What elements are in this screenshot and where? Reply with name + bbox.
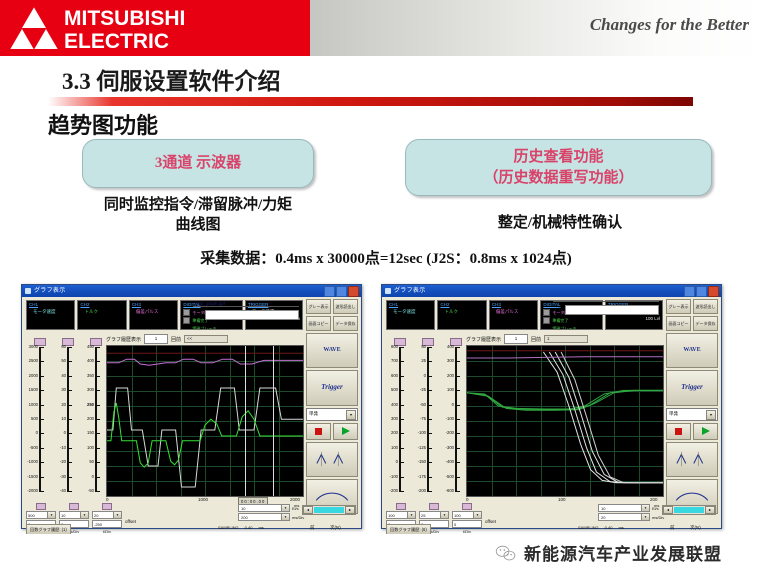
stop-icon [315, 428, 322, 435]
axis-tick-label: 40 [61, 374, 66, 378]
memo-input[interactable] [205, 310, 299, 320]
stop-button[interactable] [666, 423, 691, 440]
axis-tick [427, 405, 432, 406]
axis-tick [455, 376, 460, 377]
wechat-icon [495, 544, 517, 562]
digital-label: 電磁ブレーキ [192, 326, 216, 331]
chevron-down-icon[interactable]: ▾ [440, 512, 448, 518]
axis2-div-select[interactable]: 10▾ [59, 511, 89, 519]
ch1-title: CH1 [389, 302, 432, 308]
axis3-control: 100▾ 0 t/Div [452, 503, 482, 534]
axis-tick [67, 361, 72, 362]
axis-tick-label: 400 [447, 345, 454, 349]
memo-label: メモ: [193, 312, 203, 318]
axis-tick [95, 390, 100, 391]
axis-tick-label: 700 [391, 359, 398, 363]
axis-tick-label: 600 [391, 374, 398, 378]
axis-tick-label: 500 [391, 388, 398, 392]
digital-row[interactable]: 電磁ブレーキ [183, 325, 239, 330]
axis-tick-label: -600 [446, 489, 454, 493]
history-unit: 回前 [531, 336, 541, 343]
axis-tick [67, 376, 72, 377]
axis-tick [67, 390, 72, 391]
next-button-right[interactable]: 次(N) [690, 525, 701, 531]
axis-tick [455, 347, 460, 348]
axis-tick [67, 347, 72, 348]
screen-copy-button[interactable]: 画面コピー [666, 316, 691, 331]
time-div-select-1[interactable]: 10▾ [598, 504, 650, 512]
axis-tick-label: 1000 [29, 403, 38, 407]
x-tick-left-1: 1000 [198, 497, 208, 502]
time-div-value-2: 200 [241, 515, 248, 520]
axis-tick-label: 20 [61, 403, 66, 407]
axis1-div-select[interactable]: 500▾ [26, 511, 56, 519]
x-tick-right-0: 0 [466, 497, 469, 502]
axis-tick-label: 800 [391, 345, 398, 349]
gray-display-button[interactable]: グレー表示 [306, 299, 331, 314]
trigger-level-unit: Lvl [654, 316, 660, 321]
tool-row: グレー表示 波形読出し [666, 299, 718, 314]
axis-tick [455, 405, 460, 406]
wechat-account-name: 新能源汽车产业发展联盟 [524, 540, 722, 565]
axis-tick-label: -300 [446, 446, 454, 450]
trace-速度重ね書き-4 [561, 352, 663, 483]
axis-tick-label: 400 [391, 403, 398, 407]
time-div-row: 200▾ ms/Div [238, 513, 304, 521]
axis-tick [39, 376, 44, 377]
axis-tick-label: -50 [88, 489, 94, 493]
memo-row[interactable]: メモ: [193, 310, 299, 320]
trace-偏差パルス重ね書き [467, 357, 663, 358]
app-icon [385, 288, 391, 294]
axis1-div-select[interactable]: 100▾ [386, 511, 416, 519]
offset-label-left: offset [125, 519, 136, 534]
window-body-left: CH1 モータ速度 CH2 トルク CH3 偏差パルス DIGITAL モータ回… [22, 297, 361, 528]
measure-mode-select[interactable]: 単発 ▾ [666, 408, 718, 421]
scroll-left-icon[interactable]: ◄ [663, 506, 673, 514]
memo-input[interactable] [565, 305, 659, 315]
axis3-color-chip [102, 503, 112, 510]
axis-tick-label: 25 [421, 359, 426, 363]
digital-indicator-icon [543, 309, 550, 316]
start-button[interactable] [693, 423, 718, 440]
axis2-color-chip [69, 503, 79, 510]
axis-tick [67, 433, 72, 434]
waveform-read-button[interactable]: 波形読出し [333, 299, 358, 314]
axis-tick-label: 300 [391, 417, 398, 421]
window-controls-right[interactable] [684, 286, 719, 297]
chevron-down-icon[interactable]: ▾ [641, 514, 649, 520]
waveform-traces [467, 346, 663, 496]
brand-tagline: Changes for the Better [590, 15, 749, 35]
axis-tick [427, 491, 432, 492]
window-title-right: グラフ表示 [394, 285, 426, 297]
axis-tick [95, 477, 100, 478]
digital-indicator-icon [183, 309, 190, 316]
tool-row: 画面コピー データ保存 [306, 316, 358, 331]
data-save-button[interactable]: データ保存 [693, 316, 718, 331]
history-input[interactable]: 1 [504, 334, 528, 344]
channel-box-ch3[interactable]: CH3 偏差パルス [129, 300, 178, 330]
time-div-label-1: El/s [292, 506, 299, 511]
history-unit: 回前 [171, 336, 181, 343]
axis-tick-label: 250 [87, 403, 94, 407]
cursor-measure-icon [672, 451, 712, 467]
ch1-value: モータ速度 [389, 309, 432, 315]
memo-filename [553, 301, 659, 302]
time-div-label-1: El/s [652, 506, 659, 511]
axis-tick-label: 450 [87, 345, 94, 349]
window-body-right: CH1 モータ速度 CH2 トルク CH3 偏差パルス DIGITAL モータ回… [382, 297, 721, 528]
time-div-label-2: ms/Div [292, 515, 304, 520]
history-nav-button[interactable]: << [184, 335, 228, 343]
chevron-down-icon[interactable]: ▾ [473, 512, 481, 518]
axis1-div-value: 100 [388, 513, 395, 518]
scroll-right-icon[interactable]: ► [345, 506, 355, 514]
memo-row[interactable]: メモ: [553, 305, 659, 315]
axis-tick-label: 2500 [29, 359, 38, 363]
axis2-div-select[interactable]: 25▾ [419, 511, 449, 519]
minimize-icon[interactable] [324, 286, 335, 297]
axis-tick-label: 100 [447, 388, 454, 392]
title-red-rule [48, 97, 693, 106]
axis3-div-value: 20 [94, 513, 98, 518]
waveform-plot-left[interactable] [106, 345, 304, 497]
measure-mode-value: 単発 [669, 411, 678, 417]
axis-tick-label: 50 [89, 460, 94, 464]
axis-tick [39, 477, 44, 478]
axis-tick-label: -50 [420, 403, 426, 407]
close-icon[interactable] [708, 286, 719, 297]
axis-tick-label: -1500 [27, 475, 38, 479]
axis-tick [455, 477, 460, 478]
callout-history-view: 历史查看功能 （历史数据重写功能） [405, 139, 712, 196]
brand-wordmark: MITSUBISHI ELECTRIC [64, 8, 185, 52]
start-button[interactable] [333, 423, 358, 440]
page-title: 3.3 伺服设置软件介绍 [62, 62, 281, 96]
axis-tick-label: -200 [446, 431, 454, 435]
history-nav-button[interactable]: 1 [544, 335, 588, 343]
y-axis-2-right: 50250-25-50-75-100-125-150-175-200 [414, 345, 440, 495]
memo-label: メモ: [553, 307, 563, 313]
axis3-offset-input[interactable]: 0 [452, 520, 482, 528]
digital-row[interactable]: 電磁ブレーキ [543, 325, 599, 330]
torque-curve-icon [672, 489, 712, 503]
axis-tick-label: 0 [452, 403, 454, 407]
sampling-unit: ms [258, 525, 263, 530]
ch2-value: トルク [440, 309, 483, 315]
axis-tick [399, 491, 404, 492]
axis-tick-label: 2000 [29, 374, 38, 378]
ch2-title: CH2 [440, 302, 483, 308]
axis-tick-label: 0 [64, 431, 66, 435]
mitsubishi-logo-block: MITSUBISHI ELECTRIC [0, 0, 310, 56]
digital-label: 準備完了 [552, 318, 568, 324]
ch3-title: CH3 [132, 302, 175, 308]
axis-tick [455, 491, 460, 492]
axis-tick-label: 1500 [29, 388, 38, 392]
time-div-controls-right: 10▾ El/s 20▾ ms/Div [598, 504, 664, 521]
history-input[interactable]: 1 [144, 334, 168, 344]
axis-tick-label: -100 [446, 417, 454, 421]
titlebar-left[interactable]: グラフ表示 [22, 285, 361, 297]
cursor-line-A[interactable] [245, 346, 246, 496]
axis-tick-label: -75 [420, 417, 426, 421]
time-div-row: 20▾ ms/Div [598, 513, 664, 521]
axis-tick-label: 0 [92, 475, 94, 479]
axis-tick [427, 462, 432, 463]
axis-tick [427, 361, 432, 362]
axis-tick [95, 462, 100, 463]
wave-button[interactable]: WAVE [306, 333, 358, 368]
axis2-div-value: 10 [61, 513, 65, 518]
axis1-div-value: 500 [28, 513, 35, 518]
axis-tick-label: -1000 [27, 460, 38, 464]
y-axis-3-left: 450400350300250200150100500-50 [82, 345, 108, 495]
cursor-measure-button[interactable] [666, 442, 718, 477]
axis-tick-label: 200 [391, 431, 398, 435]
axis-tick [399, 419, 404, 420]
axis-tick-label: 3000 [29, 345, 38, 349]
chevron-down-icon[interactable]: ▾ [706, 410, 716, 420]
axis-tick [455, 390, 460, 391]
cursor-line-B[interactable] [273, 346, 274, 496]
section-subtitle: 趋势图功能 [48, 108, 158, 140]
next-button-left[interactable]: 次(N) [330, 525, 341, 531]
axis-tick [39, 462, 44, 463]
gray-display-button[interactable]: グレー表示 [666, 299, 691, 314]
channel-box-ch1[interactable]: CH1 モータ速度 [26, 300, 75, 330]
axis-tick [67, 477, 72, 478]
time-div-select-2[interactable]: 200▾ [238, 513, 290, 521]
axis-tick [399, 347, 404, 348]
chevron-down-icon[interactable]: ▾ [281, 514, 289, 520]
axis-tick-label: 100 [391, 446, 398, 450]
axis-tick-label: -500 [30, 446, 38, 450]
channel-box-ch1[interactable]: CH1 モータ速度 [386, 300, 435, 330]
sampling-label: SAMPLING [578, 525, 599, 530]
axis-tick [67, 419, 72, 420]
cursor-measure-button[interactable] [306, 442, 358, 477]
app-icon [25, 288, 31, 294]
axis2-div-value: 25 [421, 513, 425, 518]
ch1-value: モータ速度 [29, 309, 72, 315]
axis-tick [95, 361, 100, 362]
axis-tick [39, 433, 44, 434]
axis-tick-label: -10 [60, 446, 66, 450]
history-row-right: グラフ履歴表示 1 回前 1 [466, 334, 588, 344]
brand-line-2: ELECTRIC [64, 31, 185, 52]
brand-line-1: MITSUBISHI [64, 8, 185, 29]
horizontal-scrollbar-left[interactable]: ◄ ► [302, 505, 356, 515]
chevron-down-icon[interactable]: ▾ [47, 512, 55, 518]
axis-tick [455, 433, 460, 434]
trace-トルク重ね書き-1 [467, 390, 663, 409]
waveform-read-button[interactable]: 波形読出し [693, 299, 718, 314]
minimize-icon[interactable] [684, 286, 695, 297]
axis-tick [67, 405, 72, 406]
close-icon[interactable] [348, 286, 359, 297]
window-controls-left[interactable] [324, 286, 359, 297]
prev-button-right[interactable]: 前 [670, 525, 675, 531]
axis-tick [95, 376, 100, 377]
x-tick-right-2: 200 [650, 497, 658, 502]
time-div-select-2[interactable]: 20▾ [598, 513, 650, 521]
axis-tick-label: 500 [31, 417, 38, 421]
caption-sampling-data: 采集数据：0.4ms x 30000点=12sec (J2S：0.8ms x 1… [46, 247, 726, 268]
axis-tick [95, 347, 100, 348]
axis-tick [67, 462, 72, 463]
memo-filename: step_graph.gpf [193, 301, 299, 307]
axis-tick-label: 50 [421, 345, 426, 349]
axis-tick [399, 405, 404, 406]
axis-tick [399, 477, 404, 478]
axis-tick [399, 376, 404, 377]
maximize-icon[interactable] [696, 286, 707, 297]
axis-tick-label: -125 [418, 446, 426, 450]
chevron-down-icon[interactable]: ▾ [641, 505, 649, 511]
axis-tick [39, 405, 44, 406]
axis-tick-label: 60 [61, 345, 66, 349]
x-tick-left-0: 0 [106, 497, 109, 502]
time-div-value-2: 20 [601, 515, 605, 520]
axis-tick [427, 433, 432, 434]
scroll-thumb[interactable] [674, 507, 704, 513]
callout-three-channel-scope: 3通道 示波器 [82, 139, 314, 188]
axis-tick-label: 200 [447, 374, 454, 378]
chevron-down-icon[interactable]: ▾ [80, 512, 88, 518]
chevron-down-icon[interactable]: ▾ [281, 505, 289, 511]
time-div-value-1: 10 [241, 506, 245, 511]
axis-tick-label: 0 [424, 374, 426, 378]
axis-tick-label: 0 [396, 460, 398, 464]
graph-window-left[interactable]: グラフ表示 CH1 モータ速度 CH2 トルク CH3 偏差パルス DIGITA… [21, 284, 362, 529]
axis-tick [427, 390, 432, 391]
prev-button-left[interactable]: 前 [310, 525, 315, 531]
channel-box-ch2[interactable]: CH2 トルク [437, 300, 486, 330]
axis-tick [455, 419, 460, 420]
axis-tick-label: 200 [87, 417, 94, 421]
axis1-color-chip [396, 503, 406, 510]
torque-curve-icon [312, 489, 352, 503]
wave-button[interactable]: WAVE [666, 333, 718, 368]
digital-indicator-icon [543, 317, 550, 324]
play-icon [702, 427, 710, 435]
axis-tick [39, 361, 44, 362]
history-row-left: グラフ履歴表示 1 回前 << [106, 334, 228, 344]
sampling-label: SAMPLING [218, 525, 239, 530]
history-label: グラフ履歴表示 [466, 336, 501, 343]
titlebar-right[interactable]: グラフ表示 [382, 285, 721, 297]
axis-tick-label: -2000 [27, 489, 38, 493]
scroll-thumb[interactable] [314, 507, 344, 513]
axis-tick-label: 400 [87, 359, 94, 363]
ch2-value: トルク [80, 309, 123, 315]
time-div-controls-left: 10▾ El/s 200▾ ms/Div [238, 504, 304, 521]
axis-tick-label: -500 [446, 475, 454, 479]
axis-tick [67, 448, 72, 449]
maximize-icon[interactable] [336, 286, 347, 297]
axis-tick-label: 30 [61, 388, 66, 392]
callout-right-line-1: 历史查看功能 [483, 147, 633, 167]
chevron-down-icon[interactable]: ▾ [407, 512, 415, 518]
ch3-title: CH3 [492, 302, 535, 308]
caption-left-line-1: 同时监控指令/滞留脉冲/力矩 [38, 196, 358, 216]
window-title-left: グラフ表示 [34, 285, 66, 297]
axis-tick [39, 491, 44, 492]
chevron-down-icon[interactable]: ▾ [113, 512, 121, 518]
data-save-button[interactable]: データ保存 [333, 316, 358, 331]
time-div-row: 10▾ El/s [598, 504, 664, 512]
x-tick-right-1: 100 [558, 497, 566, 502]
digital-row[interactable]: 準備完了 [543, 317, 599, 324]
axis-tick-label: 10 [61, 417, 66, 421]
axis-tick [427, 347, 432, 348]
channel-box-ch3[interactable]: CH3 偏差パルス [489, 300, 538, 330]
axis-tick-label: 350 [87, 374, 94, 378]
time-div-row: 10▾ El/s [238, 504, 304, 512]
scroll-right-icon[interactable]: ► [705, 506, 715, 514]
time-div-label-2: ms/Div [652, 515, 664, 520]
axis-tick [455, 448, 460, 449]
channel-box-ch2[interactable]: CH2 トルク [77, 300, 126, 330]
chevron-down-icon[interactable]: ▾ [346, 410, 356, 420]
axis-tick [455, 361, 460, 362]
tool-column-left: グレー表示 波形読出し 画面コピー データ保存 WAVE Trigger 単発 … [306, 299, 358, 514]
cursor-measure-icon [312, 451, 352, 467]
axis-tick [67, 491, 72, 492]
stop-button[interactable] [306, 423, 331, 440]
sampling-status-left: SAMPLING 0.40 ms [218, 525, 264, 530]
axis3-div-select[interactable]: 100▾ [452, 511, 482, 519]
trigger-button[interactable]: Trigger [306, 370, 358, 405]
trigger-level: 100 Lvl [608, 316, 660, 322]
caption-right: 整定/机械特性确认 [410, 211, 710, 232]
axis3-offset-input[interactable]: -250 [92, 520, 122, 528]
ch3-value: 偏差パルス [132, 309, 175, 315]
axis-tick [95, 405, 100, 406]
measure-mode-select[interactable]: 単発 ▾ [306, 408, 358, 421]
scroll-left-icon[interactable]: ◄ [303, 506, 313, 514]
tool-row: 画面コピー データ保存 [666, 316, 718, 331]
axis-tick [399, 390, 404, 391]
y-axis-1-left: 300025002000150010005000-500-1000-1500-2… [26, 345, 52, 495]
time-div-select-1[interactable]: 10▾ [238, 504, 290, 512]
axis-tick [427, 477, 432, 478]
callout-left-label: 3通道 示波器 [155, 153, 241, 173]
axis-tick [39, 390, 44, 391]
header-divider [0, 56, 763, 59]
y-axis-3-right: 4003002001000-100-200-300-400-500-600 [442, 345, 468, 495]
axis-tick [427, 376, 432, 377]
offset-label-right: offset [485, 519, 496, 534]
axis-tick [427, 419, 432, 420]
sampling-value: 0.40 [605, 525, 613, 530]
waveform-plot-right[interactable] [466, 345, 664, 497]
axis-tick-label: -100 [418, 431, 426, 435]
sampling-unit: ms [618, 525, 623, 530]
axis3-color-chip [462, 503, 472, 510]
digital-indicator-icon [183, 317, 190, 324]
axis3-div-select[interactable]: 20▾ [92, 511, 122, 519]
axis-tick-label: -175 [418, 475, 426, 479]
graph-window-right[interactable]: グラフ表示 CH1 モータ速度 CH2 トルク CH3 偏差パルス DIGITA… [381, 284, 722, 529]
screen-copy-button[interactable]: 画面コピー [306, 316, 331, 331]
horizontal-scrollbar-right[interactable]: ◄ ► [662, 505, 716, 515]
axis-tick [427, 448, 432, 449]
history-label: グラフ履歴表示 [106, 336, 141, 343]
trigger-button[interactable]: Trigger [666, 370, 718, 405]
